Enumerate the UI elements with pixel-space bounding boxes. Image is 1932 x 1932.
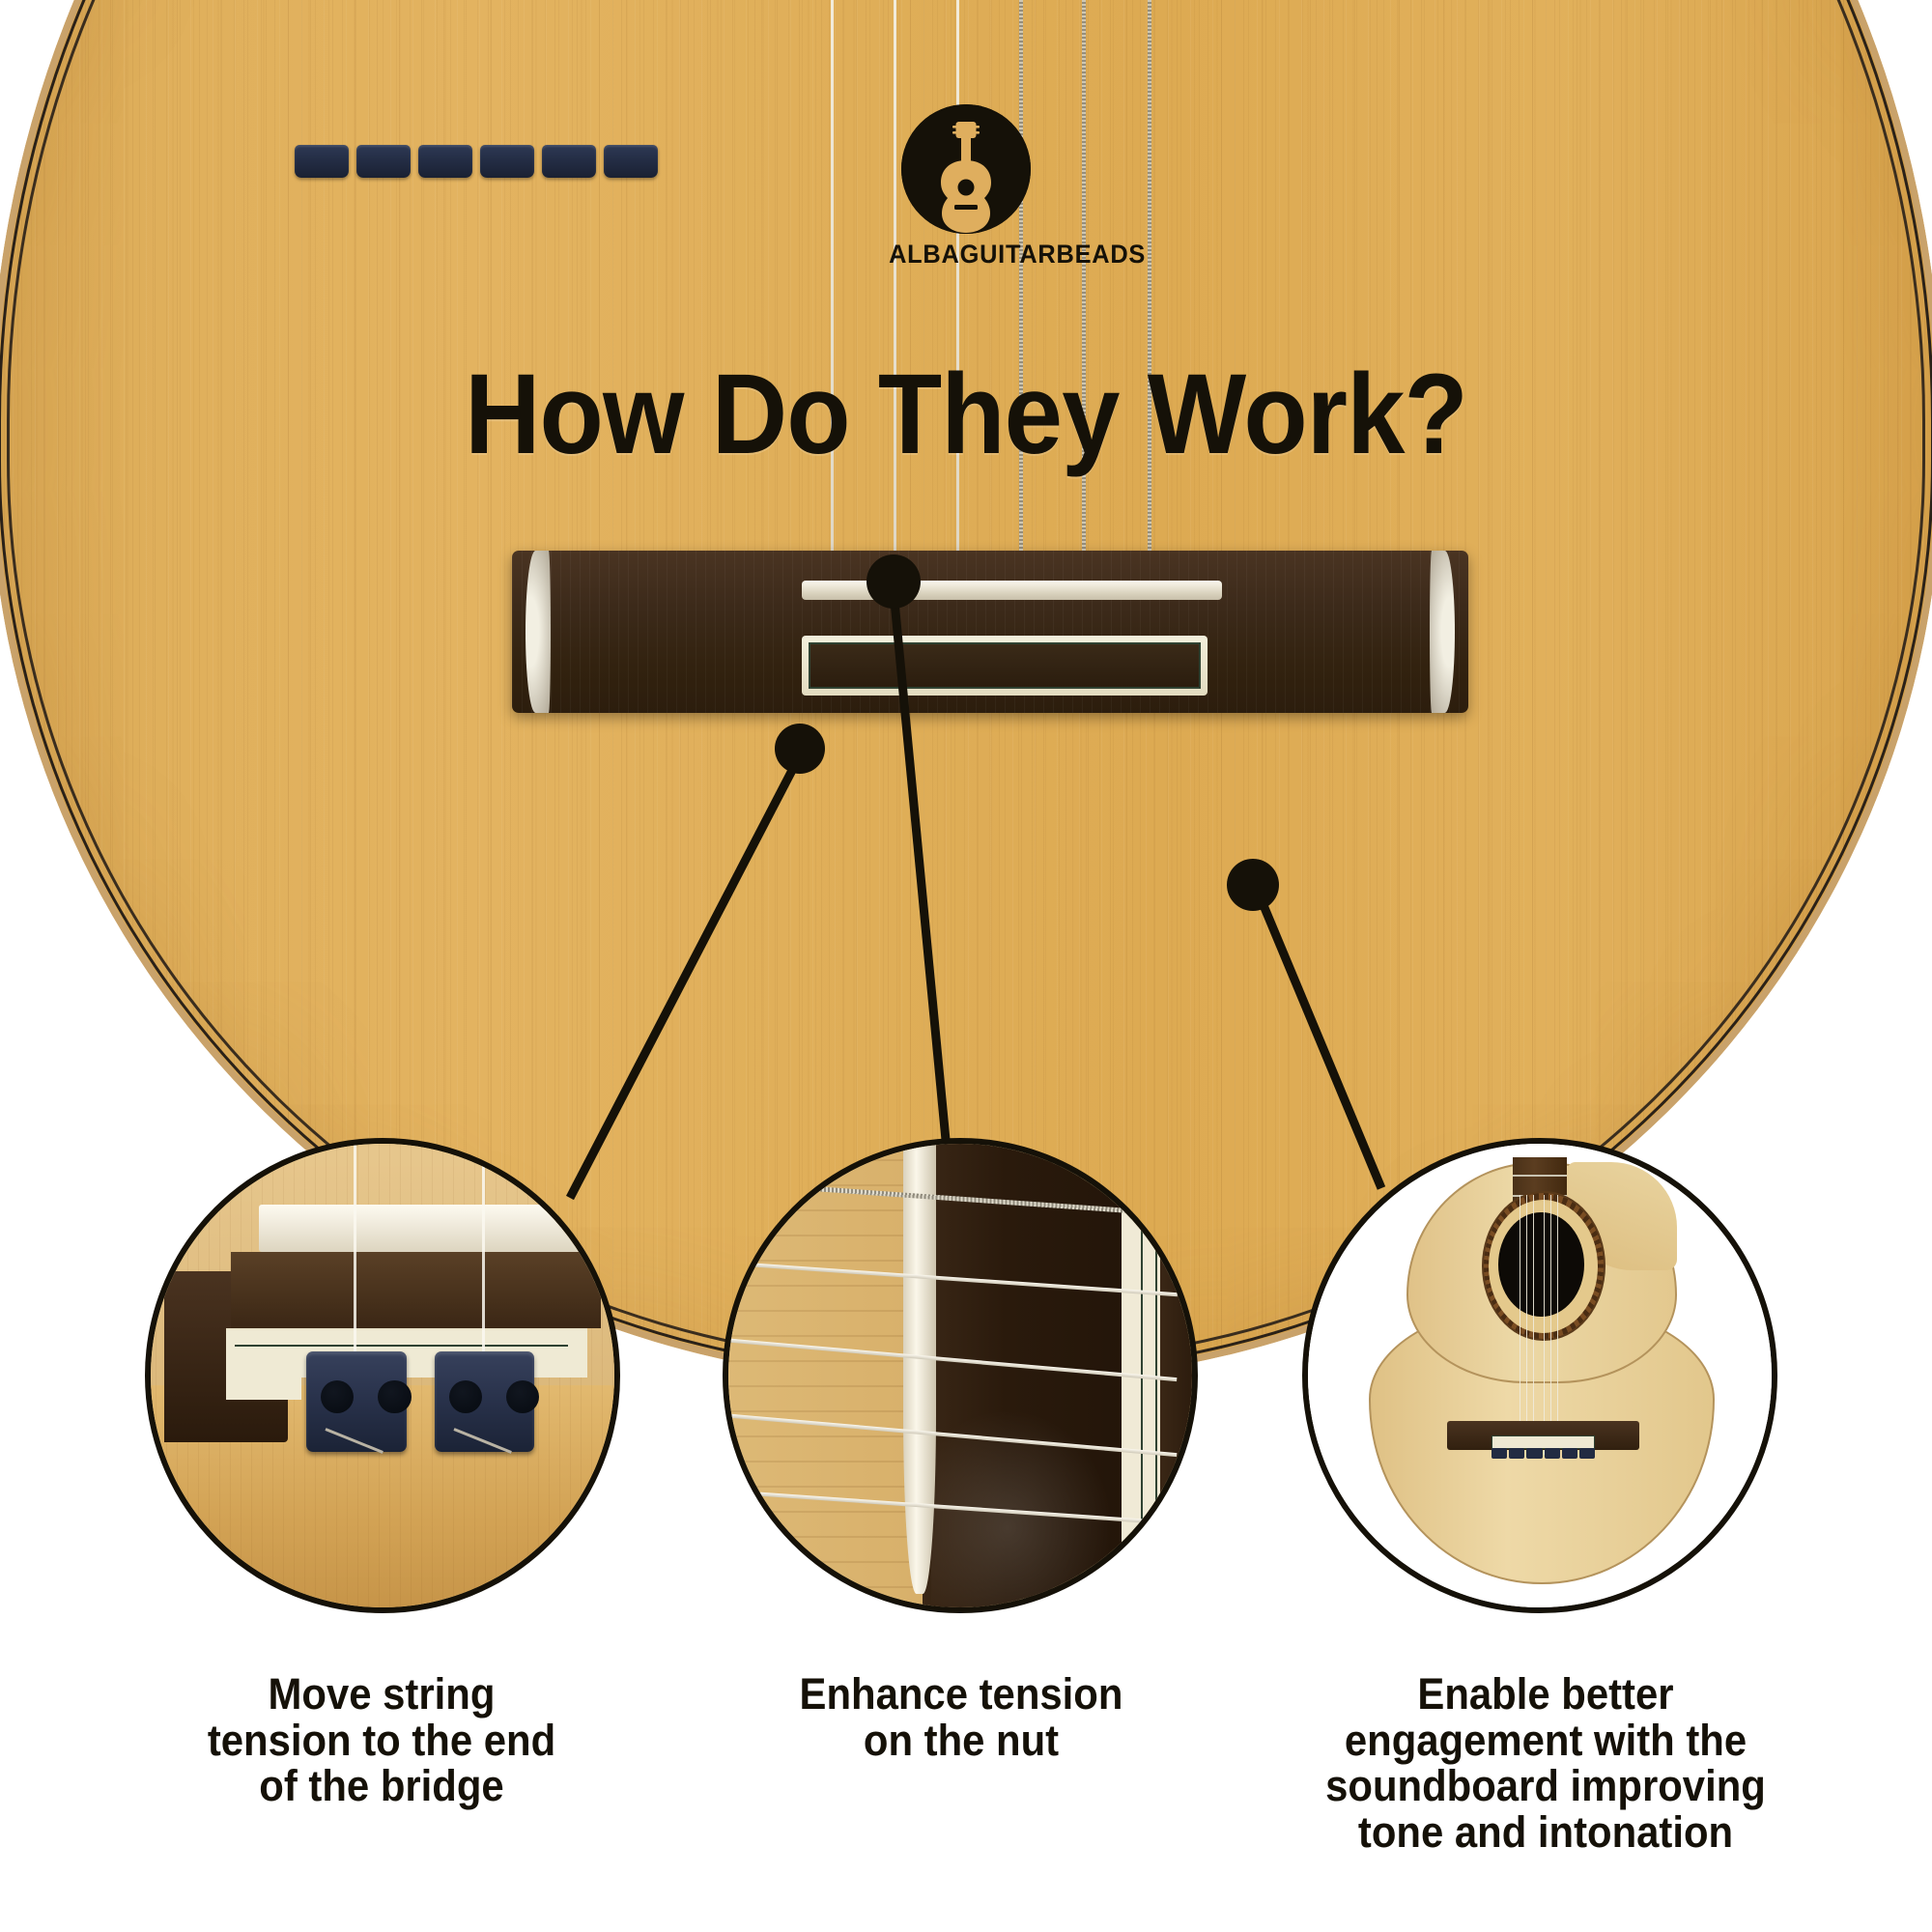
caption-line: tension to the end [144,1718,620,1764]
bridge-bead-row [295,145,658,178]
caption-line: Enable better [1294,1671,1798,1718]
bridge-wing-right [1430,551,1455,713]
c2-bone-saddle [903,1138,936,1594]
guitar-string-6 [1148,0,1151,580]
callout-caption-nut: Enhance tension on the nut [724,1671,1200,1763]
caption-line: of the bridge [144,1763,620,1809]
c3-guitar-bead [1492,1448,1507,1459]
detail-circle-saddle[interactable] [723,1138,1198,1613]
c2-soundboard-grain [723,1138,923,1613]
guitar-string-5 [1082,0,1086,580]
c1-string [354,1138,356,1356]
c3-guitar-bead [1545,1448,1560,1459]
page-title: How Do They Work? [77,357,1855,471]
guitar-string-1 [831,0,834,580]
bridge-saddle [802,581,1222,600]
detail-circle-full-guitar[interactable] [1302,1138,1777,1613]
c3-string [1550,1195,1552,1454]
c3-string [1557,1195,1559,1454]
caption-line: soundboard improving [1294,1763,1798,1809]
infographic-canvas: ALBAGUITARBEADS How Do They Work? [0,0,1932,1932]
caption-line: Move string [144,1671,620,1718]
c3-fret [1513,1175,1568,1177]
c1-bridge-rosewood [231,1252,602,1328]
caption-line: Enhance tension [724,1671,1200,1718]
c3-guitar-bead [1509,1448,1524,1459]
c1-inlay-line [235,1345,567,1347]
guitar-bead [356,145,411,178]
c1-string [482,1157,485,1357]
c1-bead-hole [378,1380,411,1413]
c3-bridge-inlay [1492,1435,1594,1449]
callout-caption-bridge: Move string tension to the end of the br… [144,1671,620,1809]
guitar-bead [295,145,349,178]
guitar-bead [480,145,534,178]
brand-name: ALBAGUITARBEADS [889,240,1043,270]
c3-guitar-bead [1579,1448,1595,1459]
c3-string [1526,1195,1528,1454]
c3-soundhole [1498,1212,1584,1317]
c3-guitar-body [1369,1162,1711,1580]
caption-line: on the nut [724,1718,1200,1764]
guitar-bead [542,145,596,178]
guitar-bead [604,145,658,178]
bridge-inlay-panel [802,636,1207,696]
c3-guitar-bead [1562,1448,1577,1459]
guitar-bead [418,145,472,178]
c3-string [1544,1195,1546,1454]
detail-circle-bridge-beads[interactable] [145,1138,620,1613]
c3-bridge-bead-row [1492,1448,1594,1459]
guitar-string-2 [894,0,896,580]
callout-caption-soundboard: Enable better engagement with the soundb… [1294,1671,1798,1856]
bridge-inlay-inner [809,642,1201,689]
guitar-logo-icon [901,104,1031,234]
c3-string [1533,1195,1535,1454]
guitar-bridge [512,551,1468,713]
c3-guitar-bead [1526,1448,1542,1459]
guitar-string-4 [1019,0,1023,580]
bridge-wing-left [526,551,551,713]
brand-logo: ALBAGUITARBEADS [884,104,1048,270]
caption-line: tone and intonation [1294,1809,1798,1856]
caption-line: engagement with the [1294,1718,1798,1764]
c1-inlay-corner [226,1366,302,1399]
guitar-string-3 [956,0,959,580]
c1-saddle [259,1205,591,1252]
c3-string [1520,1195,1521,1454]
